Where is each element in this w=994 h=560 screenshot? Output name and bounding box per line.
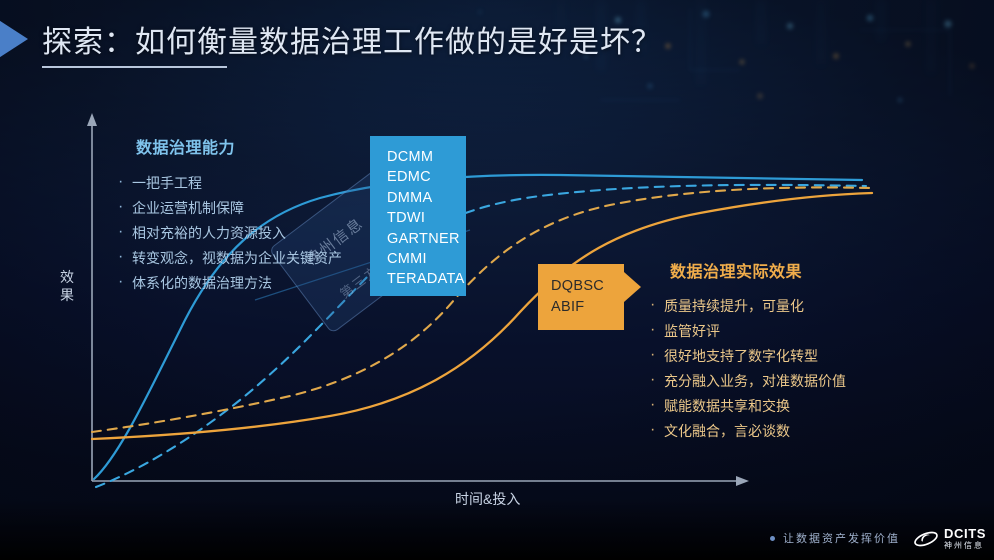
- list-item: 企业运营机制保障: [118, 196, 388, 221]
- list-item: DMMA: [387, 188, 466, 208]
- effect-list: 质量持续提升，可量化 监管好评 很好地支持了数字化转型 充分融入业务，对准数据价…: [650, 294, 940, 444]
- list-item: DCMM: [387, 147, 466, 167]
- list-item: TDWI: [387, 208, 466, 228]
- list-item: CMMI: [387, 249, 466, 269]
- list-item: 充分融入业务，对准数据价值: [650, 369, 940, 394]
- effect-block: 数据治理实际效果 质量持续提升，可量化 监管好评 很好地支持了数字化转型 充分融…: [650, 258, 940, 444]
- company-logo: DCITS 神州信息: [913, 527, 986, 550]
- capability-block: 数据治理能力 一把手工程 企业运营机制保障 相对充裕的人力资源投入 转变观念，视…: [118, 134, 388, 296]
- footer-tagline-text: 让数据资产发挥价值: [783, 530, 900, 546]
- x-axis-arrowhead: [736, 476, 749, 486]
- standards-tag: DCMM EDMC DMMA TDWI GARTNER CMMI TERADAT…: [370, 136, 466, 296]
- metrics-list: DQBSC ABIF: [538, 264, 624, 318]
- list-item: TERADATA: [387, 269, 466, 289]
- slide-root: 探索：如何衡量数据治理工作做的是好是坏？ 效果 时间&投入 神州信息 第三方 数…: [0, 0, 994, 560]
- metrics-tag-arrow-icon: [624, 272, 641, 302]
- y-axis-label: 效果: [56, 268, 78, 304]
- list-item: 赋能数据共享和交换: [650, 394, 940, 419]
- list-item: 相对充裕的人力资源投入: [118, 221, 388, 246]
- list-item: 很好地支持了数字化转型: [650, 344, 940, 369]
- list-item: 质量持续提升，可量化: [650, 294, 940, 319]
- list-item: 转变观念，视数据为企业关键资产: [118, 246, 388, 271]
- swirl-logo-icon: [913, 528, 939, 550]
- list-item: DQBSC: [551, 276, 624, 297]
- footer-tagline: 让数据资产发挥价值: [770, 530, 900, 546]
- logo-text: DCITS 神州信息: [944, 527, 986, 550]
- standards-list: DCMM EDMC DMMA TDWI GARTNER CMMI TERADAT…: [370, 136, 466, 290]
- capability-list: 一把手工程 企业运营机制保障 相对充裕的人力资源投入 转变观念，视数据为企业关键…: [118, 171, 388, 296]
- list-item: ABIF: [551, 297, 624, 318]
- list-item: EDMC: [387, 167, 466, 187]
- bullet-dot-icon: [770, 536, 775, 541]
- capability-title: 数据治理能力: [136, 134, 388, 158]
- logo-text-en: DCITS: [944, 527, 986, 540]
- x-axis-label: 时间&投入: [455, 489, 520, 509]
- effect-title: 数据治理实际效果: [670, 258, 940, 282]
- y-axis-arrowhead: [87, 113, 97, 126]
- metrics-tag: DQBSC ABIF: [538, 264, 624, 330]
- list-item: 文化融合，言必谈数: [650, 419, 940, 444]
- list-item: GARTNER: [387, 229, 466, 249]
- list-item: 体系化的数据治理方法: [118, 271, 388, 296]
- list-item: 一把手工程: [118, 171, 388, 196]
- list-item: 监管好评: [650, 319, 940, 344]
- logo-text-cn: 神州信息: [944, 542, 986, 550]
